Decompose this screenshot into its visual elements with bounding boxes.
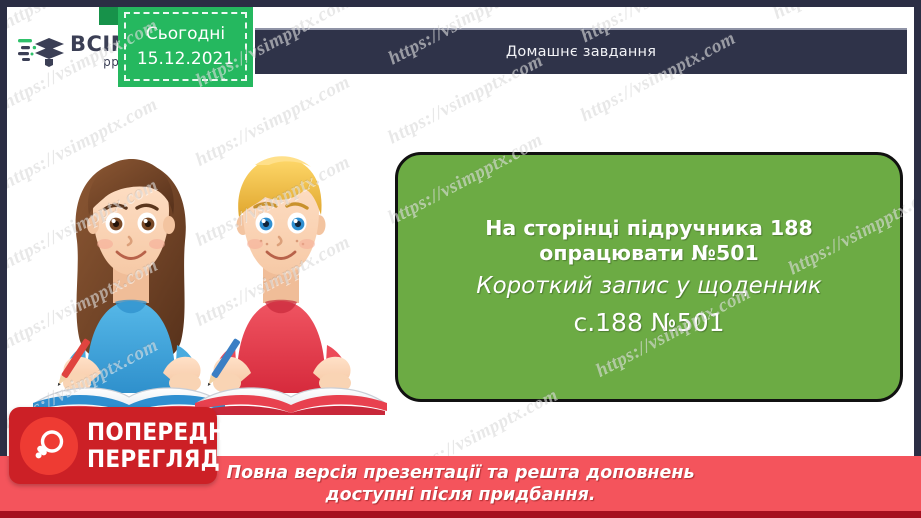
preview-badge-line-2: ПЕРЕГЛЯД: [87, 447, 253, 471]
page-title: Домашнє завдання: [506, 44, 656, 60]
slide-root: На сторінці підручника 188 опрацювати №5…: [0, 0, 921, 518]
homework-line-1: На сторінці підручника 188: [418, 216, 880, 241]
homework-line-4: с.188 №501: [418, 308, 880, 339]
child-girl: [55, 159, 201, 393]
preview-badge-line-1: ПОПЕРЕДНІЙ: [87, 420, 253, 444]
illustration-two-children: [25, 145, 397, 417]
date-badge: Сьогодні 15.12.2021: [118, 7, 253, 87]
graduation-cap-icon: [17, 31, 65, 72]
homework-line-2: опрацювати №501: [418, 241, 880, 266]
homework-content-box: На сторінці підручника 188 опрацювати №5…: [395, 152, 903, 402]
preview-badge[interactable]: ПОПЕРЕДНІЙ ПЕРЕГЛЯД: [9, 407, 217, 484]
slide-title-bar: Домашнє завдання: [255, 28, 907, 74]
date-badge-label: Сьогодні: [146, 25, 225, 44]
homework-line-3: Короткий запис у щоденник: [418, 272, 880, 300]
date-badge-value: 15.12.2021: [137, 50, 234, 69]
child-boy: [205, 156, 351, 393]
notice-line-1: Повна версія презентації та решта доповн…: [226, 462, 694, 484]
notice-line-2: доступні після придбання.: [325, 484, 595, 506]
magnifier-icon: [20, 417, 78, 475]
